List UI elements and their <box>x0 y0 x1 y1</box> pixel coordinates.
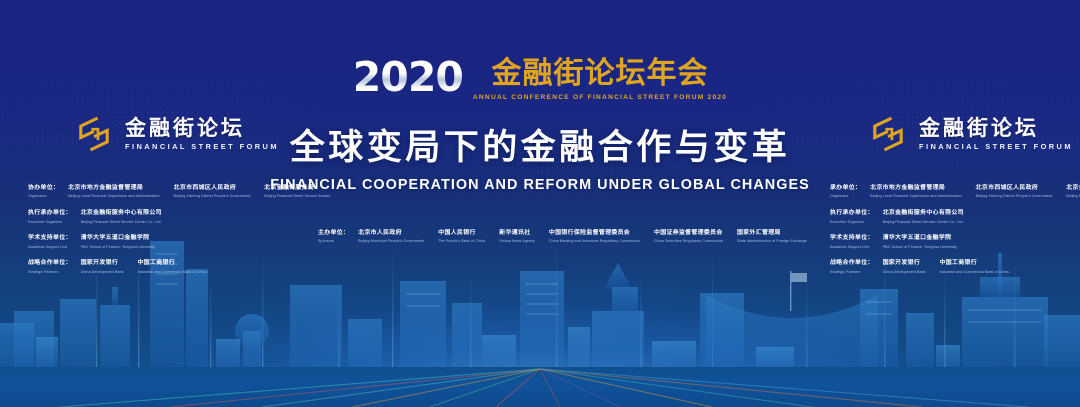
credit-entry: 北京金融街服务中心有限公司Beijing Financial Street Se… <box>81 210 162 224</box>
credit-role-label: 承办单位：Organizers <box>830 185 861 199</box>
credit-entry: 北京金融街服务中心有限公司Beijing Financial Street Se… <box>883 210 964 224</box>
credit-entry-en: State Administration of Foreign Exchange <box>737 239 807 244</box>
credit-entry-cn: 中国工商银行 <box>138 260 207 268</box>
credit-role-label-en: Executive Organizer <box>830 220 874 225</box>
credit-entry-en: PBC School of Finance, Tsinghua Universi… <box>81 245 155 250</box>
credit-entry: 国家开发银行China Development Bank <box>81 260 124 274</box>
credit-row: 承办单位：Organizers北京市地方金融监督管理局Beijing Local… <box>830 185 1080 199</box>
credit-entry-cn: 北京市地方金融监督管理局 <box>68 185 159 193</box>
credit-role-label: 战略合作单位：Strategic Partners <box>830 260 874 274</box>
credit-role-label-cn: 战略合作单位： <box>28 260 72 268</box>
credit-entry-cn: 北京金融街服务中心有限公司 <box>883 210 964 218</box>
credit-entry-en: PBC School of Finance, Tsinghua Universi… <box>883 245 957 250</box>
credit-entry-cn: 中国工商银行 <box>940 260 1009 268</box>
credit-entry: 北京市地方金融监督管理局Beijing Local Financial Supe… <box>68 185 159 199</box>
credit-entry: 北京市地方金融监督管理局Beijing Local Financial Supe… <box>870 185 961 199</box>
credit-role-label: 学术支持单位：Academic Support Unit <box>28 235 72 249</box>
credit-entry: 新华通讯社Xinhua News Agency <box>499 230 535 244</box>
credits-left-column: 协办单位：Organizers北京市地方金融监督管理局Beijing Local… <box>28 185 328 274</box>
credit-entry: 北京市西城区人民政府Beijing Xicheng District Peopl… <box>976 185 1053 199</box>
credit-entry-cn: 国家开发银行 <box>883 260 926 268</box>
credit-role-label-en: Academic Support Unit <box>830 245 874 250</box>
credit-entry-en: Beijing Xicheng District People's Govern… <box>174 194 251 199</box>
credit-role-label-en: Organizers <box>28 194 59 199</box>
credit-entry: 中国人民银行The People's Bank of China <box>438 230 485 244</box>
credit-entry: 中国证券监督管理委员会China Securities Regulatory C… <box>654 230 723 244</box>
credit-role-label-en: Organizers <box>830 194 861 199</box>
credit-entry-en: China Development Bank <box>81 270 124 275</box>
credit-entry-en: The People's Bank of China <box>438 239 485 244</box>
credit-role-label-en: Sponsors <box>318 239 349 244</box>
credit-entry-cn: 北京市西城区人民政府 <box>174 185 251 193</box>
masthead-year: 2020 <box>353 58 463 97</box>
credit-entry-en: Beijing Financial Street Service Bureau <box>264 194 330 199</box>
credit-entry: 中国工商银行Industrial and Commercial Bank of … <box>138 260 207 274</box>
credit-role-label-cn: 执行承办单位： <box>28 210 72 218</box>
credit-entry-cn: 北京金融街服务局 <box>264 185 330 193</box>
credit-entry: 北京市西城区人民政府Beijing Xicheng District Peopl… <box>174 185 251 199</box>
credit-role-label-cn: 学术支持单位： <box>830 235 874 243</box>
credit-row: 执行承办单位：Executive Organizer北京金融街服务中心有限公司B… <box>830 210 1080 224</box>
credit-entry-en: Xinhua News Agency <box>499 239 535 244</box>
credit-entry: 中国银行保险监督管理委员会China Banking and Insurance… <box>549 230 640 244</box>
credit-entry-cn: 北京市人民政府 <box>358 230 424 238</box>
perspective-road <box>0 367 1080 407</box>
credit-row: 战略合作单位：Strategic Partners国家开发银行China Dev… <box>830 260 1080 274</box>
credit-entry-cn: 清华大学五道口金融学院 <box>81 235 155 243</box>
credit-entry-en: Industrial and Commercial Bank of China <box>138 270 207 275</box>
credit-role-label-cn: 协办单位： <box>28 185 59 193</box>
credit-row: 学术支持单位：Academic Support Unit清华大学五道口金融学院P… <box>28 235 328 249</box>
credit-entry-cn: 中国银行保险监督管理委员会 <box>549 230 640 238</box>
credit-entry: 国家外汇管理局State Administration of Foreign E… <box>737 230 807 244</box>
credit-entry-cn: 北京市西城区人民政府 <box>976 185 1053 193</box>
credit-row: 主办单位：Sponsors北京市人民政府Beijing Municipal Pe… <box>318 230 778 244</box>
credit-role-label: 主办单位：Sponsors <box>318 230 349 244</box>
credit-entry-en: Beijing Xicheng District People's Govern… <box>976 194 1053 199</box>
credit-entry-cn: 清华大学五道口金融学院 <box>883 235 957 243</box>
credit-entry: 国家开发银行China Development Bank <box>883 260 926 274</box>
masthead-title-en: ANNUAL CONFERENCE OF FINANCIAL STREET FO… <box>473 94 727 101</box>
credit-entry-en: Beijing Municipal People's Government <box>358 239 424 244</box>
credit-entry-cn: 北京金融街服务局 <box>1066 185 1080 193</box>
headline-cn: 全球变局下的金融合作与变革 <box>0 128 1080 168</box>
credit-role-label: 学术支持单位：Academic Support Unit <box>830 235 874 249</box>
credit-role-label-cn: 战略合作单位： <box>830 260 874 268</box>
credit-role-label-en: Academic Support Unit <box>28 245 72 250</box>
credit-entry-cn: 国家开发银行 <box>81 260 124 268</box>
credit-entry-en: Industrial and Commercial Bank of China <box>940 270 1009 275</box>
credit-entry-en: China Banking and Insurance Regulatory C… <box>549 239 640 244</box>
credit-role-label: 协办单位：Organizers <box>28 185 59 199</box>
credit-entry-en: Beijing Financial Street Service Bureau <box>1066 194 1080 199</box>
credit-entry-cn: 中国证券监督管理委员会 <box>654 230 723 238</box>
credit-role-label-cn: 学术支持单位： <box>28 235 72 243</box>
conference-backdrop-banner: 金融街论坛 FINANCIAL STREET FORUM 金融街论坛 FINAN… <box>0 0 1080 407</box>
credit-entry: 清华大学五道口金融学院PBC School of Finance, Tsingh… <box>883 235 957 249</box>
credit-role-label: 执行承办单位：Executive Organizer <box>28 210 72 224</box>
credit-entry-en: China Securities Regulatory Commission <box>654 239 723 244</box>
credit-entry-cn: 新华通讯社 <box>499 230 535 238</box>
credit-entry-en: Beijing Financial Street Service Center … <box>81 220 162 225</box>
credit-role-label-cn: 执行承办单位： <box>830 210 874 218</box>
credit-role-label: 执行承办单位：Executive Organizer <box>830 210 874 224</box>
credit-entry-cn: 国家外汇管理局 <box>737 230 807 238</box>
masthead: 2020 金融街论坛年会 ANNUAL CONFERENCE OF FINANC… <box>0 58 1080 101</box>
credit-entry-en: Beijing Financial Street Service Center … <box>883 220 964 225</box>
credit-entry: 中国工商银行Industrial and Commercial Bank of … <box>940 260 1009 274</box>
credit-role-label-cn: 承办单位： <box>830 185 861 193</box>
credit-entry-en: Beijing Local Financial Supervision and … <box>68 194 159 199</box>
credit-role-label-cn: 主办单位： <box>318 230 349 238</box>
headline: 全球变局下的金融合作与变革 FINANCIAL COOPERATION AND … <box>0 128 1080 193</box>
credit-entry-cn: 北京市地方金融监督管理局 <box>870 185 961 193</box>
credit-role-label-en: Executive Organizer <box>28 220 72 225</box>
credit-entry-cn: 中国人民银行 <box>438 230 485 238</box>
credits-center-column: 主办单位：Sponsors北京市人民政府Beijing Municipal Pe… <box>318 230 778 244</box>
credit-row: 学术支持单位：Academic Support Unit清华大学五道口金融学院P… <box>830 235 1080 249</box>
credit-role-label: 战略合作单位：Strategic Partners <box>28 260 72 274</box>
credit-row: 执行承办单位：Executive Organizer北京金融街服务中心有限公司B… <box>28 210 328 224</box>
credit-entry: 清华大学五道口金融学院PBC School of Finance, Tsingh… <box>81 235 155 249</box>
credit-entry: 北京金融街服务局Beijing Financial Street Service… <box>264 185 330 199</box>
credits-right-column: 承办单位：Organizers北京市地方金融监督管理局Beijing Local… <box>830 185 1080 274</box>
credit-row: 战略合作单位：Strategic Partners国家开发银行China Dev… <box>28 260 328 274</box>
masthead-title-cn: 金融街论坛年会 <box>492 59 709 90</box>
credit-row: 协办单位：Organizers北京市地方金融监督管理局Beijing Local… <box>28 185 328 199</box>
credit-role-label-en: Strategic Partners <box>28 270 72 275</box>
credit-entry-en: China Development Bank <box>883 270 926 275</box>
credit-entry-cn: 北京金融街服务中心有限公司 <box>81 210 162 218</box>
credit-role-label-en: Strategic Partners <box>830 270 874 275</box>
credit-entry-en: Beijing Local Financial Supervision and … <box>870 194 961 199</box>
credit-entry: 北京金融街服务局Beijing Financial Street Service… <box>1066 185 1080 199</box>
credit-entry: 北京市人民政府Beijing Municipal People's Govern… <box>358 230 424 244</box>
